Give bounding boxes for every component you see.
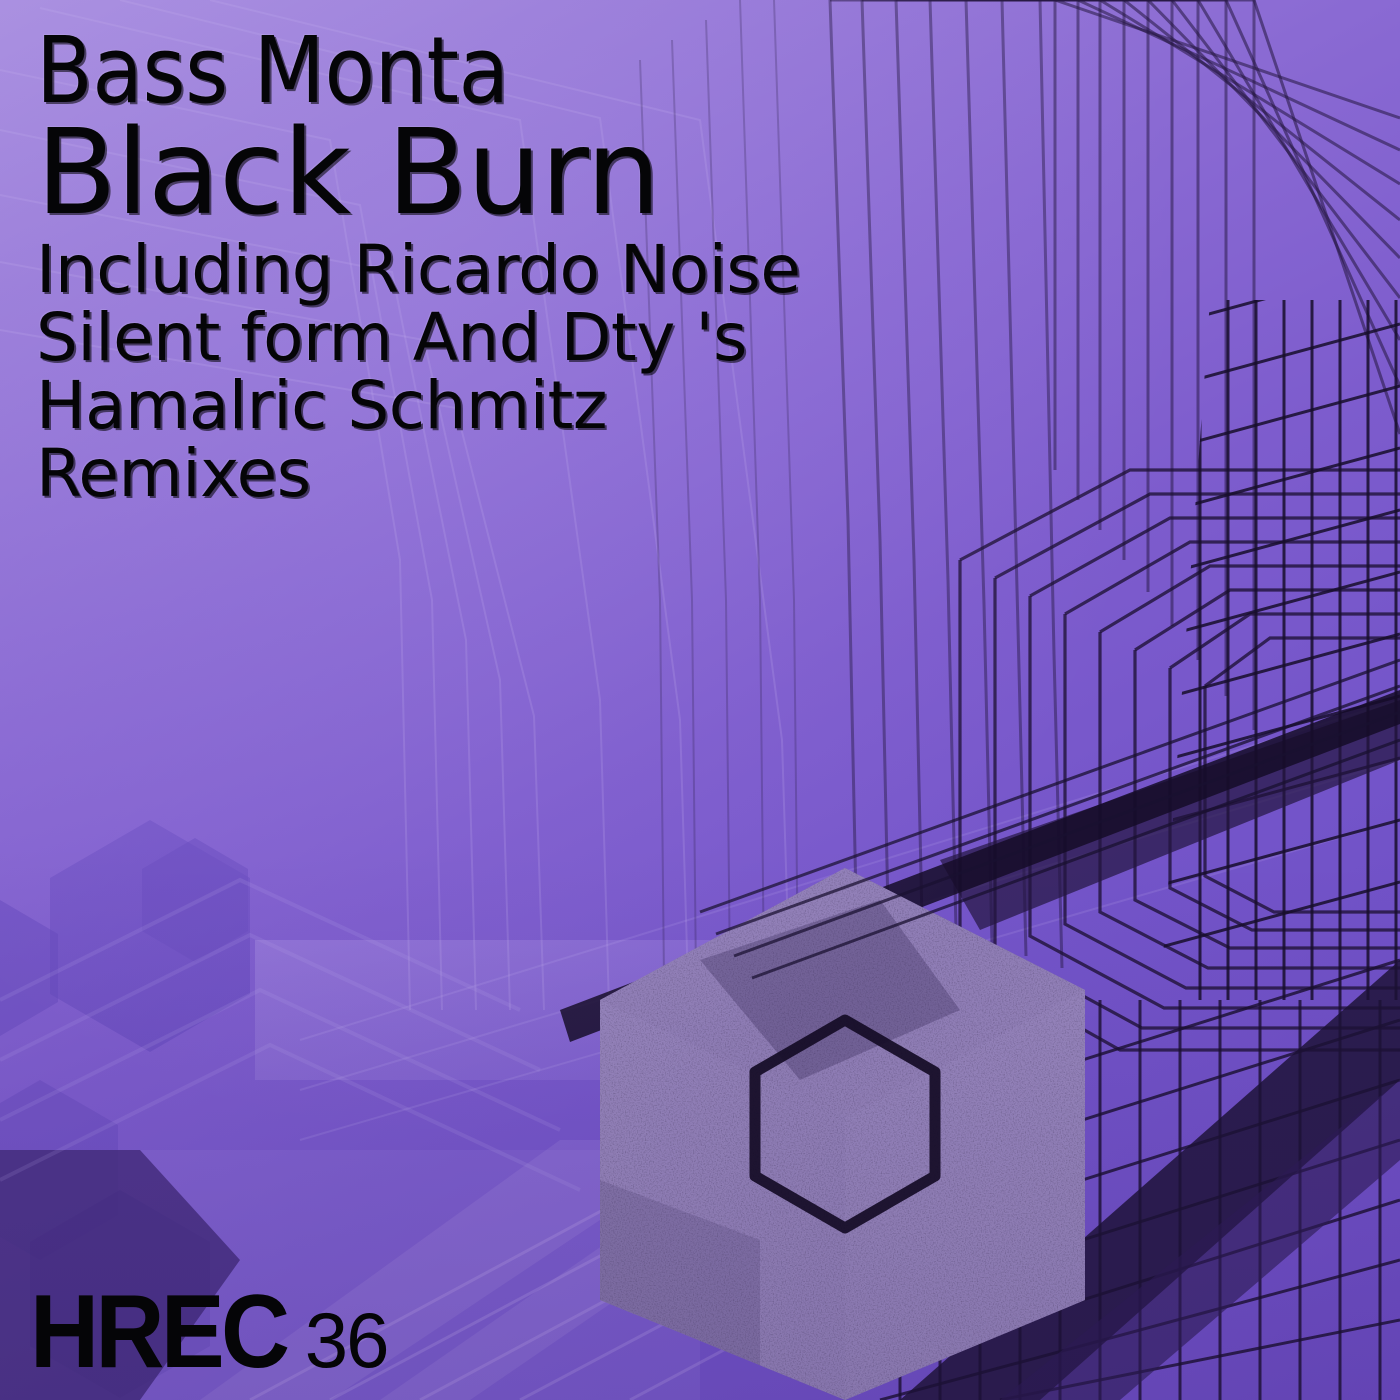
label-code: HREC [30, 1280, 286, 1384]
release-title: Black Burn [36, 114, 996, 230]
credit-line-1: Including Ricardo Noise [36, 236, 996, 304]
catalog-code: HREC 36 [30, 1280, 387, 1384]
credit-line-2: Silent form And Dty 's [36, 304, 996, 372]
album-cover: Bass Monta Black Burn Including Ricardo … [0, 0, 1400, 1400]
catalog-number: 36 [305, 1301, 388, 1379]
credit-line-3: Hamalric Schmitz [36, 372, 996, 440]
title-block: Bass Monta Black Burn Including Ricardo … [36, 22, 996, 508]
credit-line-4: Remixes [36, 440, 996, 508]
